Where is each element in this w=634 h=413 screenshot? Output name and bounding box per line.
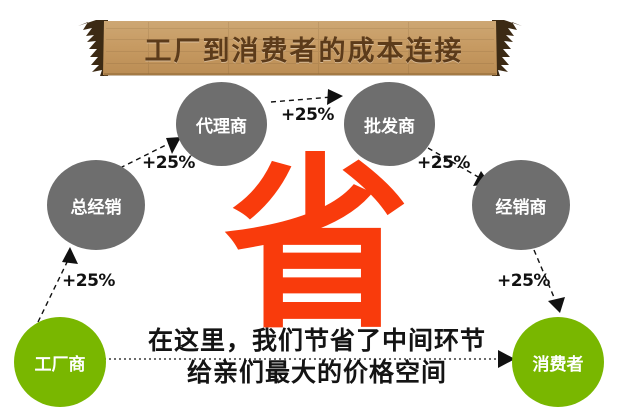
node-xiaofeizhe[interactable]: 消费者 — [512, 317, 604, 407]
node-zongjingxiao[interactable]: 总经销 — [47, 160, 145, 250]
node-label: 代理商 — [196, 112, 247, 137]
edge-label-markup-2: +25% — [142, 153, 195, 173]
center-savings-glyph: 省 — [227, 158, 407, 333]
edge-label-markup-1: +25% — [62, 271, 115, 291]
node-jingxiaoshang[interactable]: 经销商 — [472, 160, 570, 250]
node-label: 总经销 — [71, 193, 122, 218]
edge-label-markup-5: +25% — [497, 271, 550, 291]
edge-dailishang-pifashang — [271, 89, 343, 105]
bottom-slogan: 在这里，我们节省了中间环节 给亲们最大的价格空间 — [120, 325, 514, 389]
node-label: 工厂商 — [35, 350, 86, 375]
node-label: 经销商 — [496, 193, 547, 218]
edge-label-markup-3: +25% — [281, 105, 334, 125]
edge-label-markup-4: +25% — [417, 153, 470, 173]
node-gongchang[interactable]: 工厂商 — [14, 317, 106, 407]
node-label: 批发商 — [364, 112, 415, 137]
slogan-line-1: 在这里，我们节省了中间环节 — [120, 325, 514, 357]
infographic-canvas: 工厂到消费者的成本连接 — [0, 0, 634, 413]
slogan-line-2: 给亲们最大的价格空间 — [120, 357, 514, 389]
node-label: 消费者 — [533, 350, 584, 375]
